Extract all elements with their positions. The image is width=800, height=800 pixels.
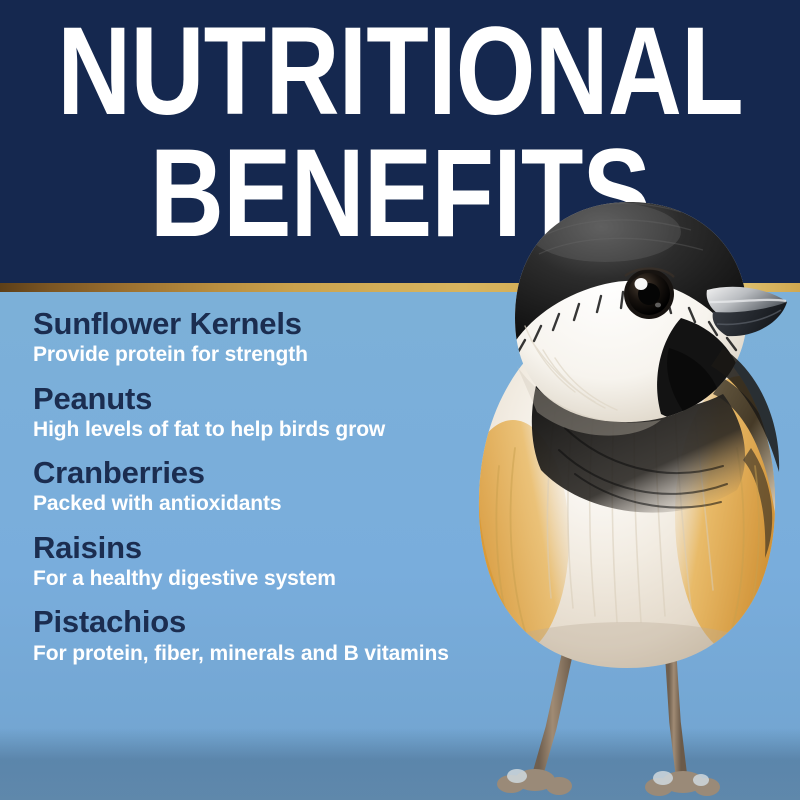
page-title-line-1: NUTRITIONAL (57, 14, 743, 129)
header-title-block: NUTRITIONAL BENEFITS (0, 0, 800, 283)
list-item: Pistachios For protein, fiber, minerals … (33, 604, 573, 667)
benefit-title: Pistachios (33, 604, 573, 639)
benefit-description: Provide protein for strength (33, 342, 573, 368)
gold-divider (0, 283, 800, 292)
list-item: Peanuts High levels of fat to help birds… (33, 381, 573, 444)
benefit-title: Cranberries (33, 455, 573, 490)
ground-shadow-band (0, 728, 800, 800)
benefit-description: For a healthy digestive system (33, 566, 573, 592)
list-item: Raisins For a healthy digestive system (33, 530, 573, 593)
page-title-line-2: BENEFITS (150, 136, 650, 251)
benefit-title: Raisins (33, 530, 573, 565)
benefit-description: High levels of fat to help birds grow (33, 417, 573, 443)
list-item: Sunflower Kernels Provide protein for st… (33, 306, 573, 369)
benefit-title: Peanuts (33, 381, 573, 416)
benefits-list: Sunflower Kernels Provide protein for st… (33, 306, 573, 667)
header-banner: NUTRITIONAL BENEFITS (0, 0, 800, 283)
benefit-title: Sunflower Kernels (33, 306, 573, 341)
poster-canvas: NUTRITIONAL BENEFITS Sunflower Kernels P… (0, 0, 800, 800)
benefit-description: For protein, fiber, minerals and B vitam… (33, 641, 573, 667)
list-item: Cranberries Packed with antioxidants (33, 455, 573, 518)
benefit-description: Packed with antioxidants (33, 491, 573, 517)
